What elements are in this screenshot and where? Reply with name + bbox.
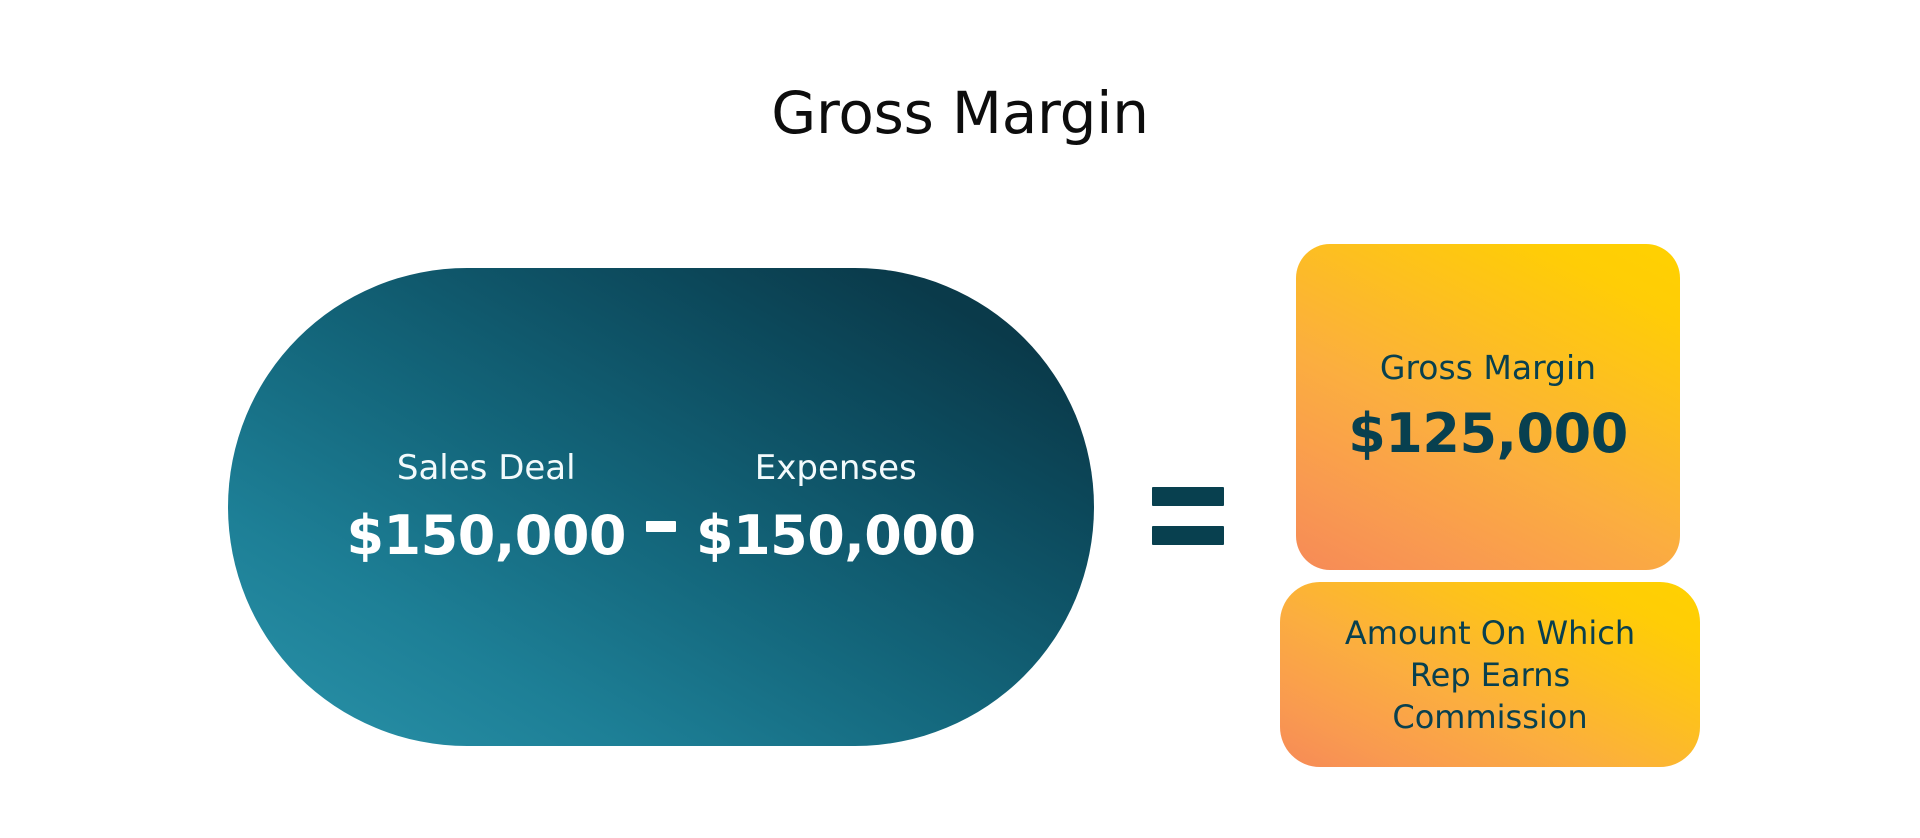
gross-margin-result-card: Gross Margin $125,000 <box>1296 244 1680 570</box>
diagram-canvas: Gross Margin Sales Deal $150,000 Expense… <box>0 0 1920 838</box>
term-expenses-value: $150,000 <box>696 505 976 567</box>
term-sales-deal-value: $150,000 <box>346 505 626 567</box>
term-expenses: Expenses $150,000 <box>696 447 976 567</box>
term-sales-deal: Sales Deal $150,000 <box>346 447 626 567</box>
equals-bar-bottom <box>1152 526 1224 545</box>
term-expenses-label: Expenses <box>755 447 917 489</box>
equals-operator-icon <box>1152 487 1224 545</box>
equation-capsule: Sales Deal $150,000 Expenses $150,000 <box>228 268 1094 746</box>
commission-caption: Amount On Which Rep Earns Commission <box>1329 612 1651 738</box>
commission-caption-line-3: Commission <box>1345 696 1635 738</box>
commission-caption-line-1: Amount On Which <box>1345 612 1635 654</box>
equation-row: Sales Deal $150,000 Expenses $150,000 <box>228 268 1094 746</box>
commission-annotation-card: Amount On Which Rep Earns Commission <box>1280 582 1700 767</box>
gross-margin-card-label: Gross Margin <box>1380 348 1596 388</box>
minus-operator-icon <box>630 476 692 576</box>
equals-bar-top <box>1152 487 1224 506</box>
minus-bar <box>646 521 676 532</box>
commission-caption-line-2: Rep Earns <box>1345 654 1635 696</box>
page-title: Gross Margin <box>0 78 1920 148</box>
gross-margin-card-value: $125,000 <box>1348 402 1628 466</box>
term-sales-deal-label: Sales Deal <box>397 447 576 489</box>
